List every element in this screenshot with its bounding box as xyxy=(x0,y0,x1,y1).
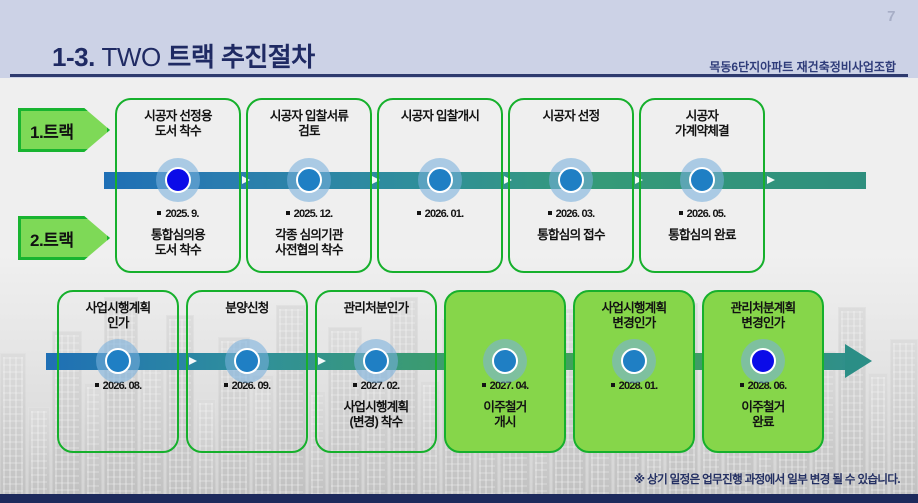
timeline-node-core xyxy=(750,348,776,374)
timeline-node xyxy=(287,158,331,202)
step-title: 시공자 선정용도서 착수 xyxy=(121,109,235,140)
title-prefix: 1-3. xyxy=(52,42,102,72)
slide: 7 1-3. TWO 트랙 추진절차 목동6단지아파트 재건축정비사업조합 1.… xyxy=(0,0,918,503)
timeline-node xyxy=(549,158,593,202)
step-title: 사업시행계획인가 xyxy=(63,301,173,332)
track-label-2-text: 2.트랙 xyxy=(21,226,73,251)
page-title: 1-3. TWO 트랙 추진절차 xyxy=(52,37,315,74)
step-subtitle: 통합심의 접수 xyxy=(514,228,628,243)
timeline-node xyxy=(156,158,200,202)
step-title: 시공자 입찰개시 xyxy=(383,109,497,124)
step-title: 분양신청 xyxy=(192,301,302,316)
timeline-node xyxy=(741,339,785,383)
timeline-node xyxy=(612,339,656,383)
footer-bar xyxy=(0,494,918,503)
timeline-node xyxy=(418,158,462,202)
step-date: 2026. 01. xyxy=(379,208,501,220)
step-date: 2026. 03. xyxy=(510,208,632,220)
timeline-node-core xyxy=(689,167,715,193)
title-main: 트랙 추진절차 xyxy=(167,42,314,72)
timeline-node-core xyxy=(492,348,518,374)
title-latin: TWO xyxy=(102,42,168,72)
step-date: 2025. 9. xyxy=(117,208,239,220)
step-subtitle: 이주철거완료 xyxy=(708,400,818,431)
page-number: 7 xyxy=(887,8,896,25)
step-subtitle: 사업시행계획(변경) 착수 xyxy=(321,400,431,431)
step-subtitle: 이주철거개시 xyxy=(450,400,560,431)
step-subtitle: 통합심의용도서 착수 xyxy=(121,228,235,259)
step-subtitle: 통합심의 완료 xyxy=(645,228,759,243)
timeline-node xyxy=(354,339,398,383)
timeline-node-core xyxy=(105,348,131,374)
step-title: 관리처분계획변경인가 xyxy=(708,301,818,332)
timeline-node xyxy=(225,339,269,383)
slide-header: 7 1-3. TWO 트랙 추진절차 목동6단지아파트 재건축정비사업조합 xyxy=(0,0,918,78)
step-title: 시공자가계약체결 xyxy=(645,109,759,140)
step-title: 관리처분인가 xyxy=(321,301,431,316)
step-date: 2025. 12. xyxy=(248,208,370,220)
step-date: 2026. 05. xyxy=(641,208,763,220)
timeline-node-core xyxy=(234,348,260,374)
organization-name: 목동6단지아파트 재건축정비사업조합 xyxy=(709,58,896,75)
footnote: ※ 상기 일정은 업무진행 과정에서 일부 변경 될 수 있습니다. xyxy=(634,471,900,487)
timeline-node-core xyxy=(621,348,647,374)
timeline-node-core xyxy=(165,167,191,193)
step-title: 사업시행계획변경인가 xyxy=(579,301,689,332)
timeline-node-core xyxy=(296,167,322,193)
timeline-node-core xyxy=(427,167,453,193)
timeline-node-core xyxy=(558,167,584,193)
timeline-node xyxy=(680,158,724,202)
track-label-1: 1.트랙 xyxy=(18,108,110,152)
step-subtitle: 각종 심의기관사전협의 착수 xyxy=(252,228,366,259)
step-title: 시공자 선정 xyxy=(514,109,628,124)
header-divider xyxy=(10,74,908,77)
timeline-node xyxy=(483,339,527,383)
step-title: 시공자 입찰서류검토 xyxy=(252,109,366,140)
track-label-1-text: 1.트랙 xyxy=(21,118,73,143)
timeline-node xyxy=(96,339,140,383)
timeline-node-core xyxy=(363,348,389,374)
